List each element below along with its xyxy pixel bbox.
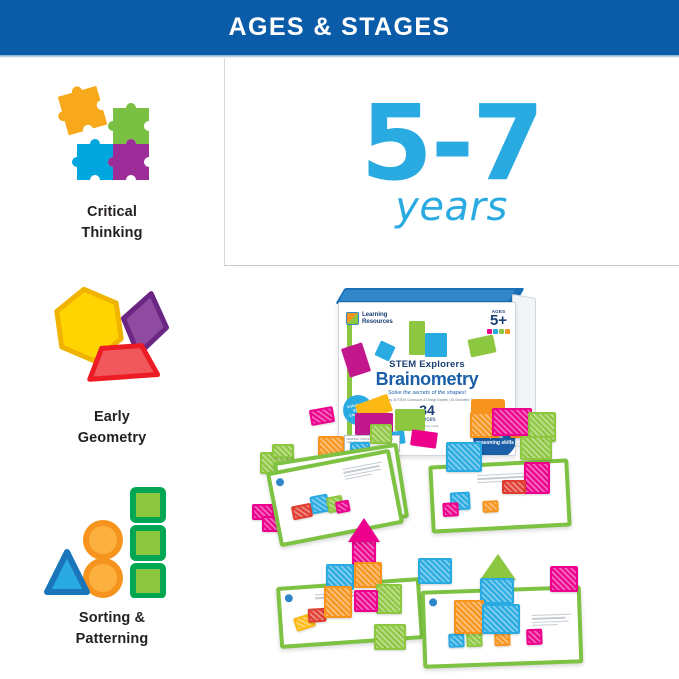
- block-green-left-2: [272, 444, 294, 458]
- age-range-value: 5-7: [361, 96, 543, 192]
- brand-line2: Resources: [362, 318, 393, 325]
- build-magenta-right: [354, 590, 378, 612]
- puzzle-pieces-icon: [37, 72, 187, 192]
- card-block-orange3: [482, 500, 499, 513]
- feature-column: Critical Thinking: [0, 58, 224, 679]
- build3-red: [502, 480, 526, 494]
- feature-label-line2: Thinking: [81, 225, 142, 241]
- feature-label-critical-thinking: Critical Thinking: [27, 202, 197, 244]
- block-green-foreground: [374, 624, 406, 650]
- build-green-right: [376, 584, 402, 614]
- feature-critical-thinking: Critical Thinking: [0, 72, 224, 244]
- feature-label-line1: Early: [94, 409, 130, 425]
- cube-icon: [346, 312, 359, 325]
- build4-cyan-lower: [482, 604, 520, 634]
- build-magenta-peak: [348, 518, 380, 542]
- build3-magenta: [492, 408, 532, 436]
- block-green-small: [370, 424, 392, 444]
- product-tagline: Solve the secrets of the shapes!: [339, 390, 515, 396]
- box-art-cyan: [425, 333, 447, 357]
- box-top-branding: [339, 290, 515, 301]
- header-banner: AGES & STAGES: [0, 0, 679, 55]
- build4-green-roof: [480, 554, 516, 580]
- card-number-badge: [429, 598, 437, 606]
- card-block-magenta: [335, 499, 351, 513]
- box-art-green-tall: [409, 321, 425, 355]
- build-orange-mid: [324, 586, 352, 618]
- feature-label-line2: Patterning: [76, 631, 149, 647]
- card-text-lines: [343, 461, 385, 482]
- product-name: Brainometry: [339, 370, 515, 389]
- ages-badge-chips: [487, 329, 510, 334]
- build3-magenta2: [524, 462, 550, 494]
- brand-line1: Learning: [362, 311, 387, 318]
- feature-label-line1: Critical: [87, 204, 137, 220]
- box-art-green-cross: [395, 409, 425, 431]
- build3-cyan-base: [446, 442, 482, 472]
- card-block-cyan4: [448, 633, 464, 648]
- build4-cyan-upper: [480, 578, 514, 604]
- brand-name: Learning Resources: [362, 312, 393, 326]
- feature-label-line2: Geometry: [78, 430, 147, 446]
- card-number-badge: [275, 478, 284, 487]
- build4-magenta-right: [550, 566, 578, 592]
- feature-label-sorting-patterning: Sorting & Patterning: [27, 608, 197, 650]
- ages-and-stages-infographic: AGES & STAGES: [0, 0, 679, 679]
- feature-early-geometry: Early Geometry: [0, 277, 224, 449]
- age-range-block: 5-7 years: [224, 58, 679, 265]
- ages-badge: AGES 5+: [487, 309, 510, 334]
- sorting-shapes-icon: [37, 478, 187, 598]
- product-photo: Learning Resources AGES 5+: [224, 266, 679, 679]
- feature-sorting-patterning: Sorting & Patterning: [0, 478, 224, 650]
- feature-label-line1: Sorting &: [79, 610, 145, 626]
- geometric-shapes-icon: [37, 277, 187, 397]
- box-art-green-right: [467, 334, 496, 357]
- block-cyan-standalone: [418, 558, 452, 584]
- card-number-badge: [285, 594, 294, 603]
- card-block-magenta4: [526, 629, 543, 646]
- ages-badge-value: 5+: [487, 314, 510, 328]
- learning-resources-logo: Learning Resources: [346, 312, 393, 326]
- card-block-magenta3: [442, 502, 459, 517]
- feature-label-early-geometry: Early Geometry: [27, 407, 197, 449]
- card-block-red: [291, 503, 313, 521]
- card-text-lines: [532, 614, 572, 629]
- page-title: AGES & STAGES: [229, 13, 451, 42]
- build4-orange: [454, 600, 484, 634]
- box-art-pink-lower: [410, 429, 438, 448]
- build3-green2: [520, 436, 552, 460]
